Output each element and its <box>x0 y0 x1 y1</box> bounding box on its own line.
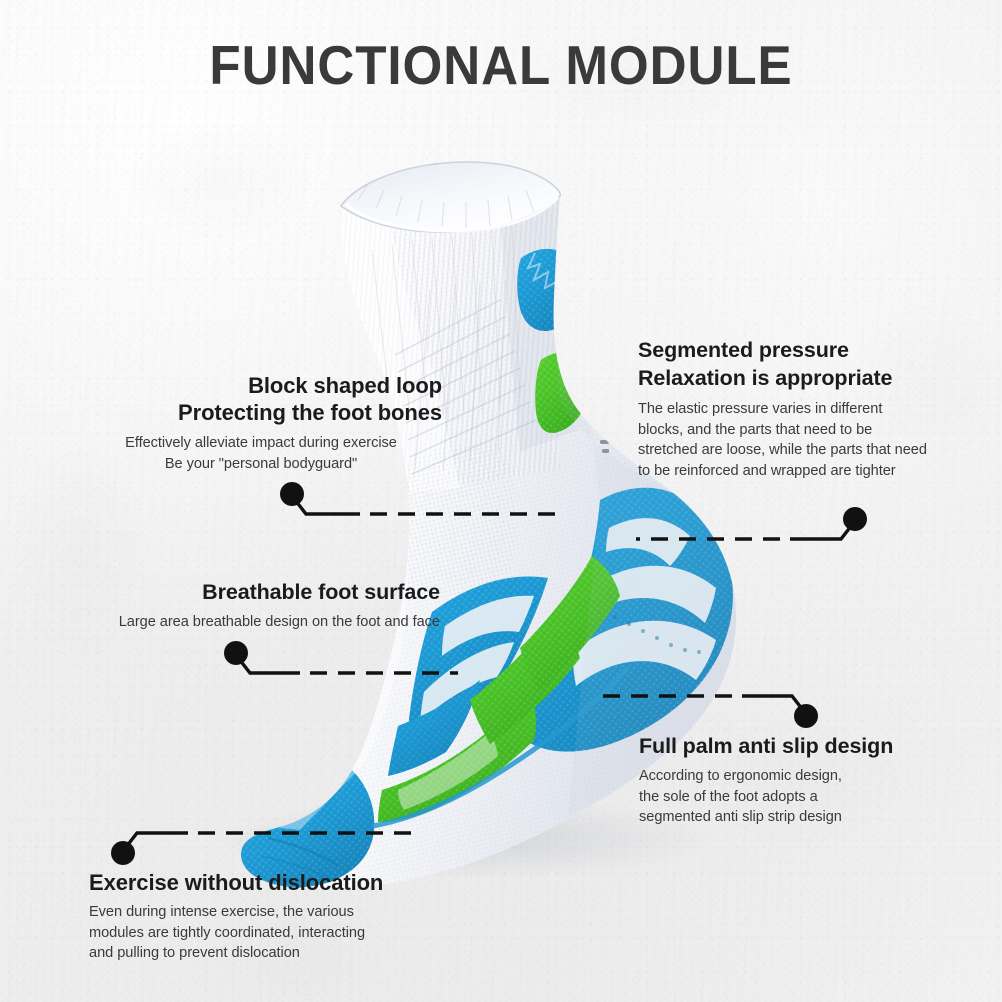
callout-exercise-without-dislocation: Exercise without dislocation Even during… <box>89 870 419 964</box>
callout-body: Effectively alleviate impact during exer… <box>52 433 442 474</box>
callout-body: Large area breathable design on the foot… <box>40 612 440 633</box>
callout-heading: Block shaped loop Protecting the foot bo… <box>52 372 442 426</box>
callout-body-line1: According to ergonomic design, <box>639 768 842 784</box>
callout-segmented-pressure: Segmented pressure Relaxation is appropr… <box>638 337 930 481</box>
sock-illustration <box>0 0 1002 1002</box>
callout-heading: Breathable foot surface <box>40 580 440 605</box>
callout-body-line1: Even during intense exercise, the variou… <box>89 904 354 920</box>
callout-body: The elastic pressure varies in different… <box>638 399 930 481</box>
callout-heading: Segmented pressure Relaxation is appropr… <box>638 337 930 392</box>
callout-body-line2: Be your "personal bodyguard" <box>165 456 357 472</box>
callout-heading-line2: Relaxation is appropriate <box>638 366 892 390</box>
callout-body-line2: modules are tightly coordinated, interac… <box>89 925 365 941</box>
callout-heading-line1: Segmented pressure <box>638 338 849 362</box>
callout-block-shaped-loop: Block shaped loop Protecting the foot bo… <box>52 372 442 474</box>
callout-body-line1: Effectively alleviate impact during exer… <box>125 435 397 451</box>
callout-body-line2: the sole of the foot adopts a <box>639 789 818 805</box>
callout-breathable-foot-surface: Breathable foot surface Large area breat… <box>40 580 440 633</box>
callout-heading: Exercise without dislocation <box>89 870 419 895</box>
callout-heading-line2: Protecting the foot bones <box>178 400 442 425</box>
callout-heading: Full palm anti slip design <box>639 734 939 759</box>
callout-body-line3: and pulling to prevent dislocation <box>89 945 300 961</box>
callout-body-line3: segmented anti slip strip design <box>639 809 842 825</box>
callout-body: Even during intense exercise, the variou… <box>89 902 419 964</box>
callout-body: According to ergonomic design, the sole … <box>639 766 939 828</box>
callout-heading-line1: Block shaped loop <box>248 373 442 398</box>
page-title: FUNCTIONAL MODULE <box>35 33 967 97</box>
infographic-canvas: FUNCTIONAL MODULE Block shaped loop Prot… <box>0 0 1002 1002</box>
callout-full-palm-anti-slip: Full palm anti slip design According to … <box>639 734 939 828</box>
